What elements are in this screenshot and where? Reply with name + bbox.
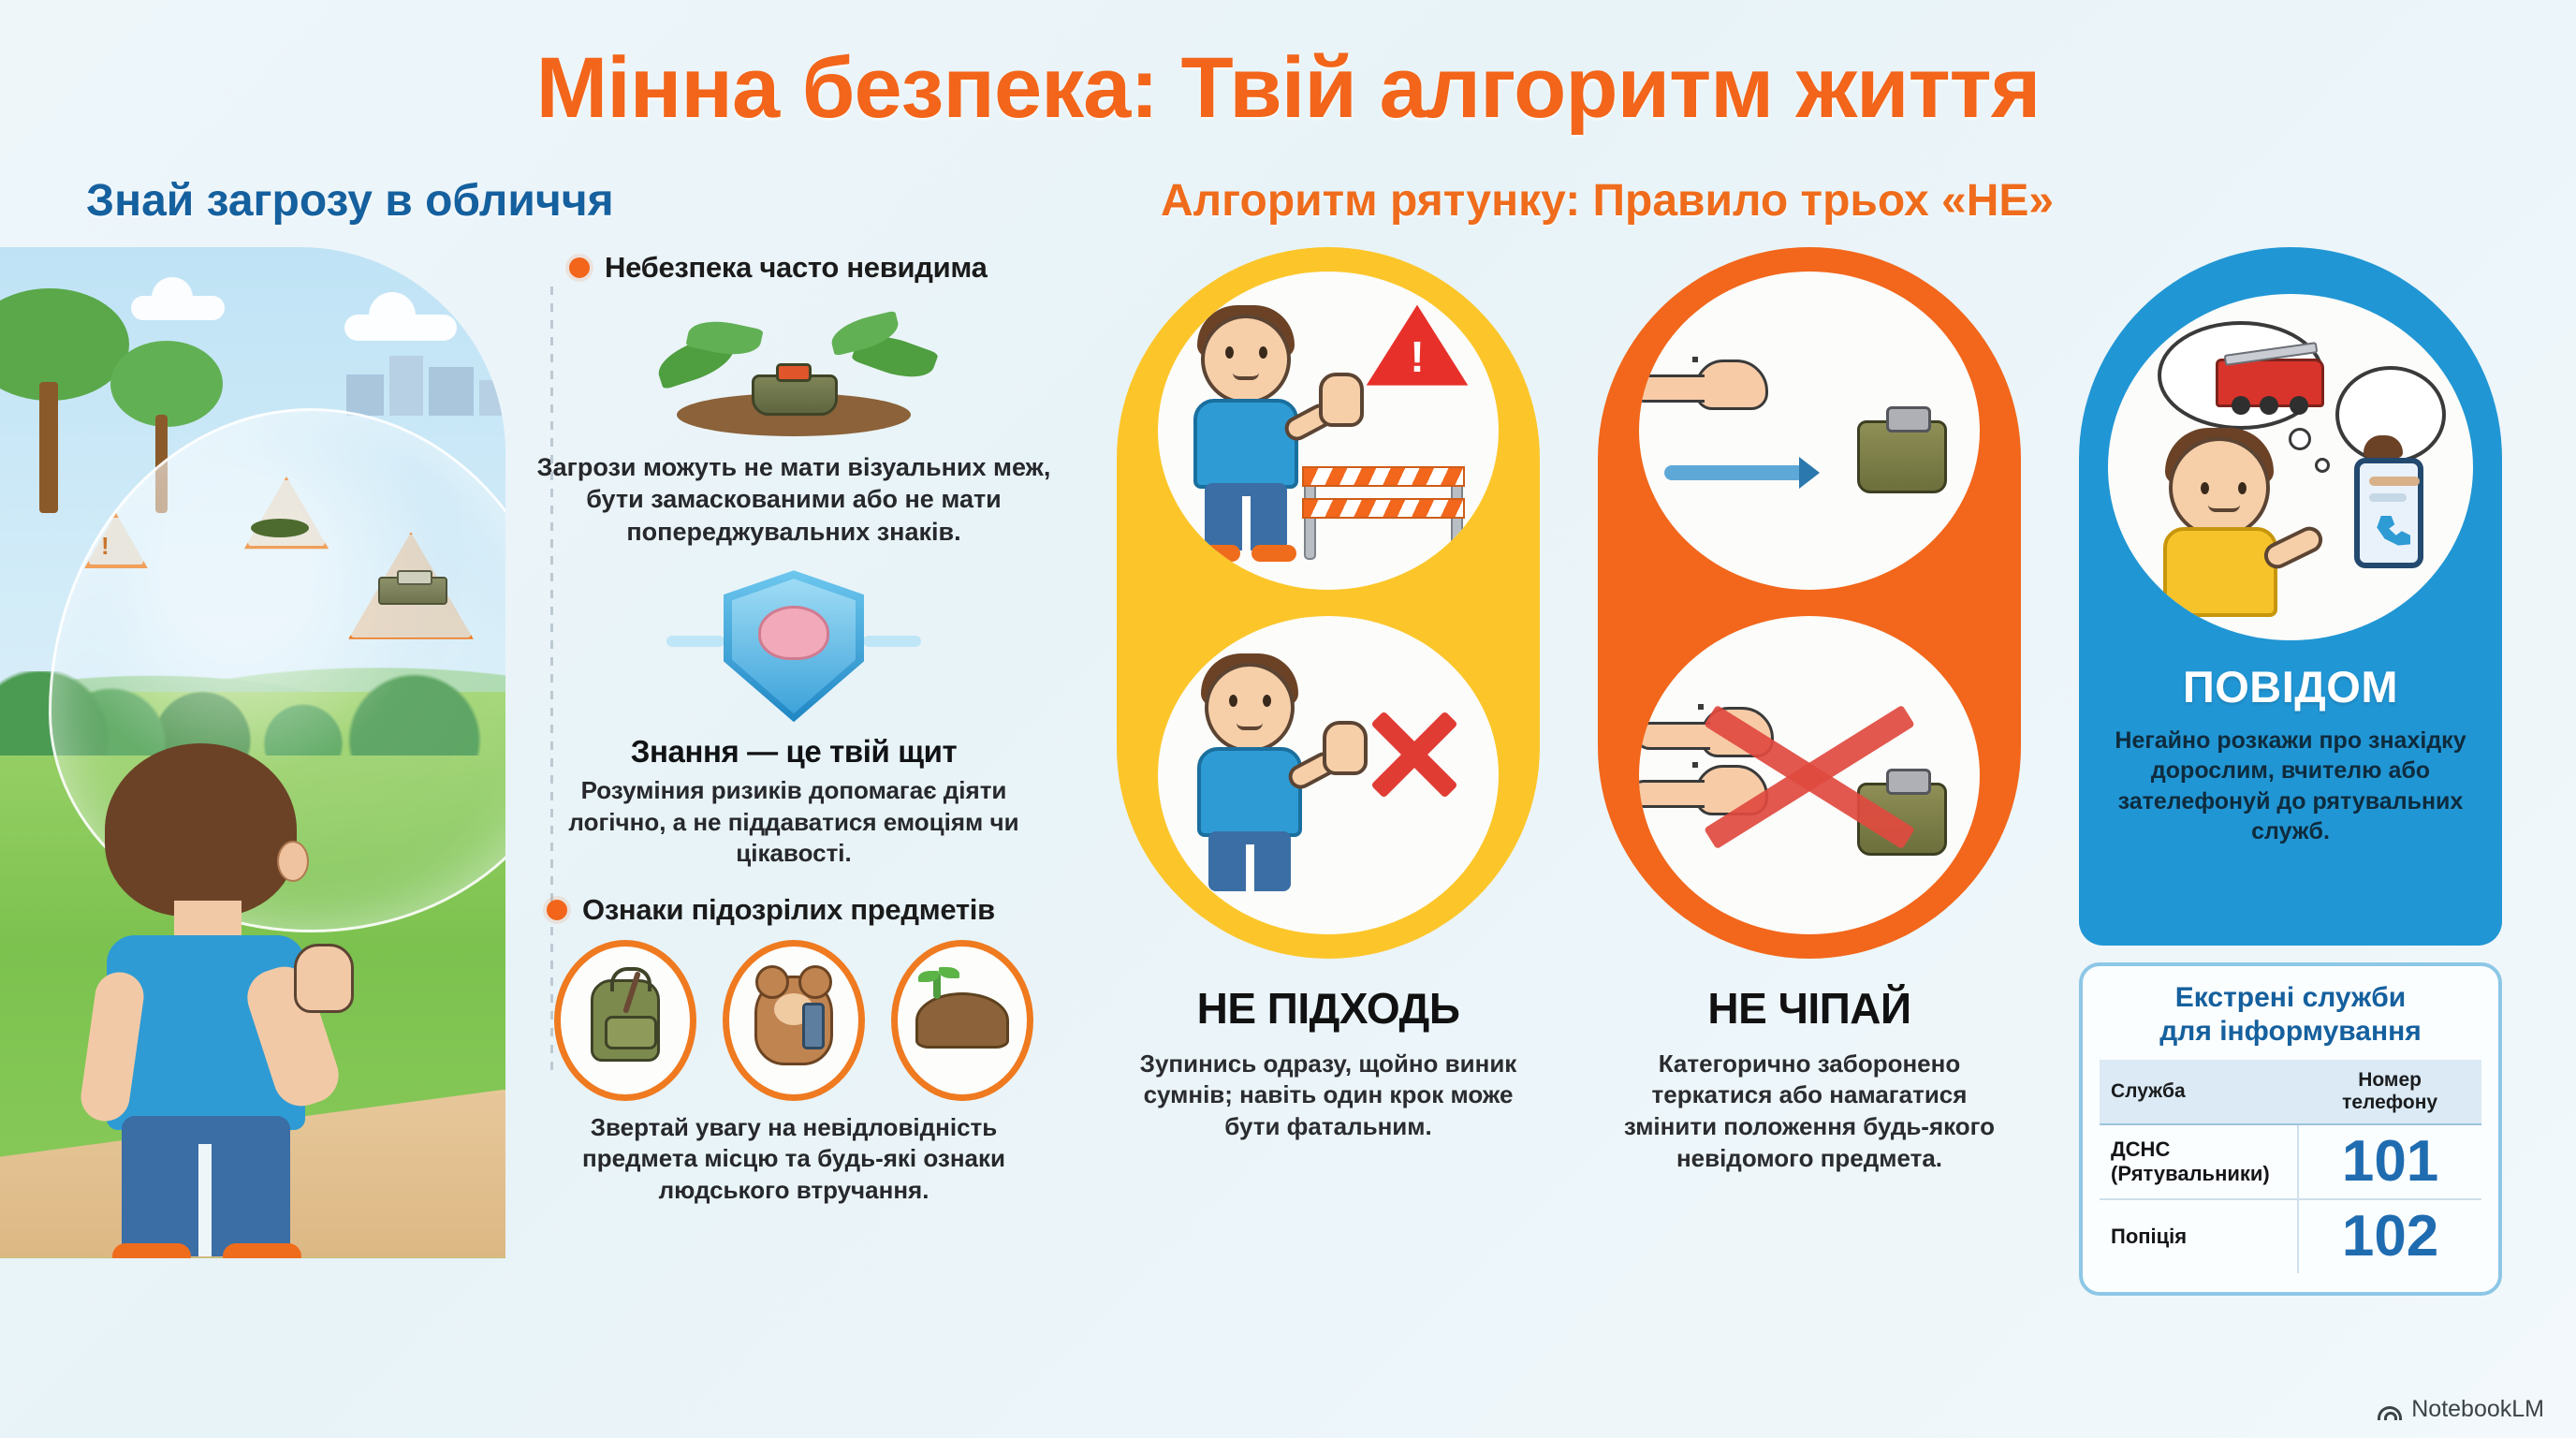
info-block-1-body: Загрози можуть не мати візуальних меж, б… [534, 451, 1054, 549]
phone-number-101: 101 [2298, 1124, 2481, 1199]
unexploded-ordnance-icon [1857, 420, 1947, 493]
service-name-police: Попіція [2100, 1199, 2298, 1273]
disturbed-soil-mound-icon [891, 940, 1033, 1101]
timeline-connector [550, 286, 553, 1071]
emergency-services-table-card: Екстрені служби для інформування Служба … [2079, 962, 2502, 1296]
backpack-with-wires-icon [554, 940, 696, 1101]
boy-shoe [1195, 545, 1240, 562]
boy-trousers [1205, 483, 1287, 550]
landmine-icon [378, 577, 447, 605]
boy-trousers [1208, 831, 1291, 891]
boy-ear [277, 841, 309, 882]
city-skyline [346, 348, 505, 416]
exclamation-icon: ! [101, 532, 110, 561]
camouflaged-mine-icon [639, 301, 948, 442]
thought-bubble-rescuer [2335, 366, 2446, 463]
main-content: ! Небезпека часто невидима [0, 247, 2576, 1296]
rule-2-pill [1598, 247, 2021, 959]
threat-awareness-column: Небезпека часто невидима Загрози можуть … [505, 247, 1067, 1296]
info-block-1-heading: Небезпека часто невидима [605, 251, 988, 285]
buried-hole-icon [251, 519, 309, 537]
hand-canister-crossed-icon [1639, 616, 1980, 934]
column-header-phone: Номер телефону [2298, 1060, 2481, 1124]
boy-shoe [1251, 545, 1296, 562]
boy-eye [1225, 346, 1234, 359]
boy-head [1205, 663, 1295, 753]
boy-eye [2238, 482, 2247, 494]
teddy-bear-with-battery-icon [723, 940, 865, 1101]
rule-2-description: Категорично заборонено теркатися або нам… [1603, 1049, 2015, 1175]
rule-1-pill: ! [1117, 247, 1540, 959]
boy-eye [2201, 482, 2209, 494]
boy-shirt [1197, 747, 1302, 837]
table-header-row: Служба Номер телефону [2100, 1060, 2481, 1124]
service-line-1: ДСНС [2111, 1137, 2286, 1161]
cloud-icon [131, 296, 225, 320]
stop-palm-icon [1319, 373, 1364, 427]
motion-line [863, 636, 921, 647]
rule-3-description: Негайно розкажи про знахідку дорослим, в… [2101, 726, 2480, 847]
right-section-title: Алгоритм рятунку: Правило трьох «НЕ» [1161, 175, 2576, 227]
thought-dot [2289, 428, 2311, 450]
boy-shirt [1193, 399, 1298, 489]
rule-card-do-not-approach[interactable]: ! [1108, 247, 1548, 1296]
brain-icon [758, 606, 829, 660]
rule-1-name: НЕ ПІДХОДЬ [1197, 983, 1460, 1034]
boy-shoe [112, 1243, 191, 1258]
info-block-3-body: Звертай увагу на невідловідність предмет… [534, 1112, 1054, 1206]
shield-brain-icon [672, 566, 915, 730]
motion-line [666, 636, 724, 647]
boy-open-palm [294, 944, 354, 1013]
boy-arm [2260, 522, 2327, 573]
watermark-label: NotebookLM [2411, 1396, 2544, 1423]
boy-hair [105, 743, 297, 917]
warning-triangle-icon [82, 511, 150, 571]
right-header-wrap: Алгоритм рятунку: Правило трьох «НЕ» [1067, 175, 2576, 227]
emergency-services-table: Служба Номер телефону ДСНС (Рятувальники… [2100, 1060, 2481, 1273]
page-title: Мінна безпека: Твій алгоритм життя [0, 0, 2576, 134]
boy-stop-hand-barrier-icon: ! [1158, 271, 1499, 590]
warning-exclamation-icon: ! [1362, 300, 1472, 393]
reaching-hand-icon [1692, 357, 1698, 362]
info-block-1-heading-row: Небезпека часто невидима [534, 251, 1054, 285]
cloud-icon [344, 315, 457, 341]
service-name-dsns: ДСНС (Рятувальники) [2100, 1124, 2298, 1199]
column-header-service: Служба [2100, 1060, 2298, 1124]
table-row: Попіція 102 [2100, 1199, 2481, 1273]
boy-trousers [122, 1116, 290, 1256]
boy-shoe [223, 1243, 301, 1258]
info-block-3-heading-row: Ознаки підозрілих предметів [534, 893, 1054, 927]
left-header-wrap: Знай загрозу в обличчя [0, 175, 1067, 227]
info-block-3-heading: Ознаки підозрілих предметів [582, 893, 995, 927]
three-no-rules: ! [1067, 247, 2576, 1296]
emergency-title-line-1: Екстрені служби [2100, 981, 2481, 1015]
bullet-dot-icon [547, 900, 567, 920]
stop-palm-icon [1323, 721, 1368, 775]
smartphone-icon [2354, 458, 2423, 568]
emergency-table-title: Екстрені служби для інформування [2100, 981, 2481, 1049]
rule-3-name: ПОВІДОМ [2183, 661, 2398, 712]
watermark: NotebookLM [2378, 1396, 2544, 1423]
boy-head [2169, 437, 2270, 538]
boy-stop-hand-cross-icon [1158, 616, 1499, 934]
boy-shirt [2163, 527, 2277, 617]
boy-mouth [1237, 723, 1263, 730]
boy-eye [1259, 346, 1267, 359]
bullet-dot-icon [569, 257, 590, 278]
boy-calling-phone-icon [2108, 294, 2473, 640]
red-cross-icon [1692, 668, 1926, 883]
boy-eye [1263, 695, 1271, 707]
service-line-2: (Рятувальники) [2111, 1162, 2286, 1185]
red-cross-icon [1362, 700, 1467, 805]
rule-card-do-not-touch[interactable]: НЕ ЧІПАЙ Категорично заборонено теркатис… [1589, 247, 2029, 1296]
rule-card-report[interactable]: ПОВІДОМ Негайно розкажи про знахідку дор… [2071, 247, 2510, 1296]
boy-under-safety-dome-illustration: ! [0, 247, 505, 1258]
warning-triangle-icon [241, 474, 331, 552]
boy-head [1201, 315, 1291, 404]
hand-reaching-canister-icon [1639, 271, 1980, 590]
tree-icon [0, 279, 122, 513]
road-barrier-icon [1296, 457, 1471, 560]
emergency-title-line-2: для інформування [2100, 1015, 2481, 1049]
section-headers: Знай загрозу в обличчя Алгоритм рятунку:… [0, 175, 2576, 227]
thought-dot [2315, 458, 2330, 473]
boy-eye [1229, 695, 1237, 707]
left-section-title: Знай загрозу в обличчя [86, 175, 1067, 227]
phone-number-102: 102 [2298, 1199, 2481, 1273]
boy-mouth [1233, 373, 1259, 380]
rule-3-pill: ПОВІДОМ Негайно розкажи про знахідку дор… [2079, 247, 2502, 946]
thought-bubble-firetruck [2158, 321, 2324, 430]
table-row: ДСНС (Рятувальники) 101 [2100, 1124, 2481, 1199]
notebooklm-logo-icon [2378, 1400, 2402, 1420]
boy-smile [2208, 505, 2240, 512]
mine-detonator [776, 363, 812, 382]
motion-arrow-icon [1664, 465, 1805, 480]
rule-2-name: НЕ ЧІПАЙ [1707, 983, 1910, 1034]
info-block-2-heading: Знання — це твій щит [534, 734, 1054, 770]
fire-truck-icon [2216, 359, 2324, 407]
info-block-2-body: Розуміния ризиків допомагає діяти логічн… [534, 775, 1054, 869]
boy-from-behind-figure [84, 743, 337, 1258]
suspicious-object-icons [534, 940, 1054, 1101]
rule-1-description: Зупинись одразу, щойно виник сумнів; нав… [1122, 1049, 1534, 1143]
